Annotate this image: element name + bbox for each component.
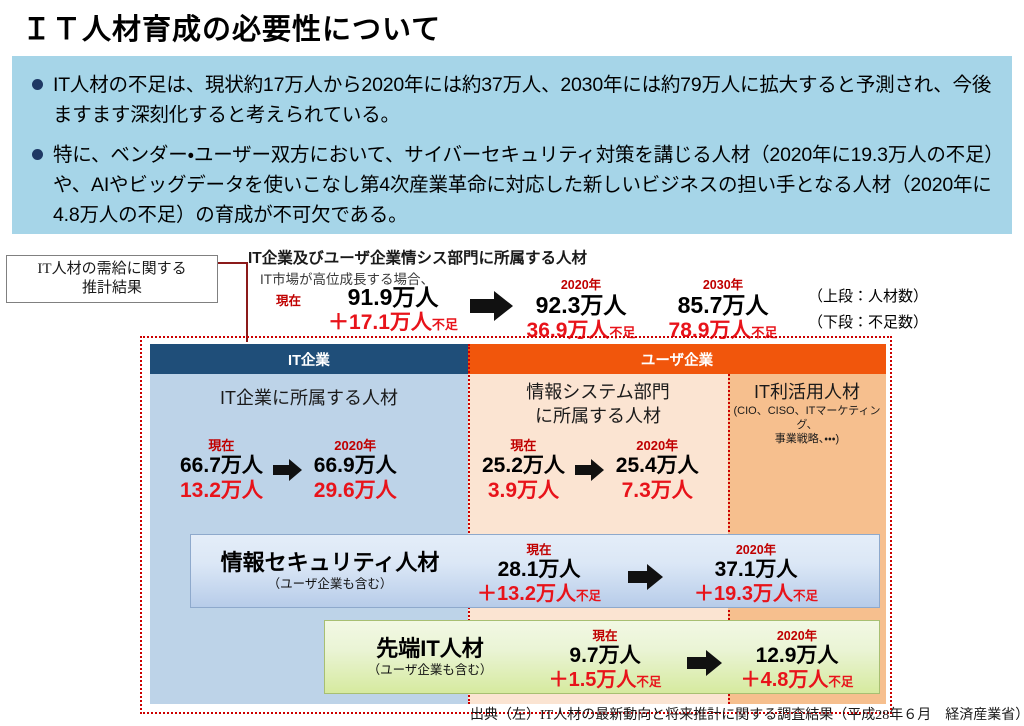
- stats-sys-2020: 2020年 25.4万人 7.3万人: [616, 438, 699, 503]
- bullet-item-2: 特に、ベンダー・ユーザー双方において、サイバーセキュリティ対策を講じる人材（20…: [32, 140, 997, 230]
- stats-sys-2020-headcount: 25.4万人: [616, 453, 699, 478]
- summary-headcount-now: 91.9万人: [318, 284, 468, 310]
- security-now-year: 現在: [459, 543, 619, 557]
- security-2020-headcount: 37.1万人: [661, 557, 851, 582]
- bullet-text-1: IT人材の不足は、現状約17万人から2020年には約37万人、2030年には約7…: [53, 70, 992, 130]
- column-title-system-dept-line1: 情報システム部門: [468, 380, 728, 404]
- bullet-dot-icon: [32, 79, 43, 90]
- column-title-system-dept-line2: に所属する人材: [468, 404, 728, 428]
- stats-it-now-shortage: 13.2万人: [180, 478, 263, 503]
- stats-it-now-year: 現在: [180, 438, 263, 453]
- security-talent-title: 情報セキュリティ人材: [205, 549, 455, 576]
- stats-sys-now: 現在 25.2万人 3.9万人: [482, 438, 565, 503]
- summary-year-2030: 2030年: [648, 274, 798, 293]
- summary-column-now: 91.9万人 ＋17.1万人不足: [318, 284, 468, 337]
- column-title-it-utilization: IT利活用人材: [728, 380, 886, 404]
- talent-supply-diagram: IT企業 ユーザ企業 IT企業に所属する人材 情報システム部門 に所属する人材 …: [140, 336, 892, 714]
- column-title-system-dept: 情報システム部門 に所属する人材: [468, 380, 728, 428]
- security-talent-subtitle: （ユーザ企業も含む）: [205, 576, 455, 592]
- security-talent-band: 情報セキュリティ人材 （ユーザ企業も含む） 現在 28.1万人 ＋13.2万人不…: [190, 534, 880, 608]
- stats-sys-arrow-icon: [569, 458, 611, 487]
- header-it-company: IT企業: [150, 344, 468, 374]
- stats-it-company: 現在 66.7万人 13.2万人 2020年 66.9万人 29.6万人: [180, 438, 397, 503]
- column-subtitle-it-utilization: (CIO、CISO、ITマーケティング、 事業戦略、・・・): [728, 404, 886, 446]
- summary-now-label: 現在: [276, 290, 301, 309]
- stats-it-now-headcount: 66.7万人: [180, 453, 263, 478]
- stats-sys-now-headcount: 25.2万人: [482, 453, 565, 478]
- summary-shortage-now: ＋17.1万人不足: [318, 310, 468, 337]
- source-footer: 出典（左）IT人材の最新動向と将来推計に関する調査結果（平成28年６月 経済産業…: [470, 704, 1024, 724]
- summary-legend-top: （上段：人材数）: [808, 284, 928, 310]
- stats-sys-2020-shortage: 7.3万人: [616, 478, 699, 503]
- advanced-it-talent-title: 先端IT人材: [335, 635, 525, 662]
- callout-line-2: 推計結果: [82, 280, 142, 296]
- summary-year-2020: 2020年: [506, 274, 656, 293]
- stats-sys-now-year: 現在: [482, 438, 565, 453]
- advanced-2020-headcount: 12.9万人: [717, 643, 877, 668]
- column-title-it-company: IT企業に所属する人材: [150, 386, 468, 410]
- stats-system-dept: 現在 25.2万人 3.9万人 2020年 25.4万人 7.3万人: [482, 438, 699, 503]
- page-title: ＩＴ人材育成の必要性について: [22, 6, 441, 48]
- stats-it-2020: 2020年 66.9万人 29.6万人: [314, 438, 397, 503]
- advanced-2020-year: 2020年: [717, 629, 877, 643]
- security-2020-year: 2020年: [661, 543, 851, 557]
- summary-title: IT企業及びユーザ企業情シス部門に所属する人材: [248, 246, 587, 268]
- summary-column-2020: 2020年 92.3万人 36.9万人不足: [506, 274, 656, 345]
- security-talent-label: 情報セキュリティ人材 （ユーザ企業も含む）: [205, 549, 455, 592]
- summary-legend-bottom: （下段：不足数）: [808, 310, 928, 336]
- stats-it-2020-headcount: 66.9万人: [314, 453, 397, 478]
- summary-legend: （上段：人材数） （下段：不足数）: [808, 284, 928, 336]
- advanced-now-shortage: ＋1.5万人不足: [525, 668, 685, 694]
- security-2020-shortage: ＋19.3万人不足: [661, 582, 851, 608]
- advanced-2020-column: 2020年 12.9万人 ＋4.8万人不足: [717, 629, 877, 694]
- header-user-company: ユーザ企業: [468, 344, 886, 374]
- stats-sys-2020-year: 2020年: [616, 438, 699, 453]
- bullet-item-1: IT人材の不足は、現状約17万人から2020年には約37万人、2030年には約7…: [32, 70, 992, 130]
- summary-block: IT企業及びユーザ企業情シス部門に所属する人材 IT市場が高位成長する場合、 現…: [248, 246, 948, 338]
- stats-it-arrow-icon: [267, 458, 309, 487]
- stats-it-2020-shortage: 29.6万人: [314, 478, 397, 503]
- advanced-now-year: 現在: [525, 629, 685, 643]
- bullet-dot-icon: [32, 149, 43, 160]
- advanced-now-headcount: 9.7万人: [525, 643, 685, 668]
- summary-headcount-2030: 85.7万人: [648, 292, 798, 318]
- advanced-now-column: 現在 9.7万人 ＋1.5万人不足: [525, 629, 685, 694]
- security-2020-column: 2020年 37.1万人 ＋19.3万人不足: [661, 543, 851, 608]
- column-subtitle-line2: 事業戦略、・・・): [728, 432, 886, 446]
- advanced-it-talent-band: 先端IT人材 （ユーザ企業も含む） 現在 9.7万人 ＋1.5万人不足 2020…: [324, 620, 880, 694]
- advanced-it-talent-label: 先端IT人材 （ユーザ企業も含む）: [335, 635, 525, 678]
- stats-it-2020-year: 2020年: [314, 438, 397, 453]
- callout-box: IT人材の需給に関する 推計結果: [6, 255, 218, 303]
- callout-line-1: IT人材の需給に関する: [37, 261, 186, 277]
- security-now-headcount: 28.1万人: [459, 557, 619, 582]
- stats-sys-now-shortage: 3.9万人: [482, 478, 565, 503]
- security-now-shortage: ＋13.2万人不足: [459, 582, 619, 608]
- callout-leader-horizontal: [218, 262, 248, 264]
- advanced-it-talent-subtitle: （ユーザ企業も含む）: [335, 662, 525, 678]
- security-now-column: 現在 28.1万人 ＋13.2万人不足: [459, 543, 619, 608]
- summary-headcount-2020: 92.3万人: [506, 292, 656, 318]
- summary-column-2030: 2030年 85.7万人 78.9万人不足: [648, 274, 798, 345]
- stats-it-now: 現在 66.7万人 13.2万人: [180, 438, 263, 503]
- summary-banner: IT人材の不足は、現状約17万人から2020年には約37万人、2030年には約7…: [12, 56, 1012, 234]
- advanced-2020-shortage: ＋4.8万人不足: [717, 668, 877, 694]
- bullet-text-2: 特に、ベンダー・ユーザー双方において、サイバーセキュリティ対策を講じる人材（20…: [53, 140, 997, 230]
- column-subtitle-line1: (CIO、CISO、ITマーケティング、: [728, 404, 886, 432]
- security-arrow-icon: [628, 563, 664, 596]
